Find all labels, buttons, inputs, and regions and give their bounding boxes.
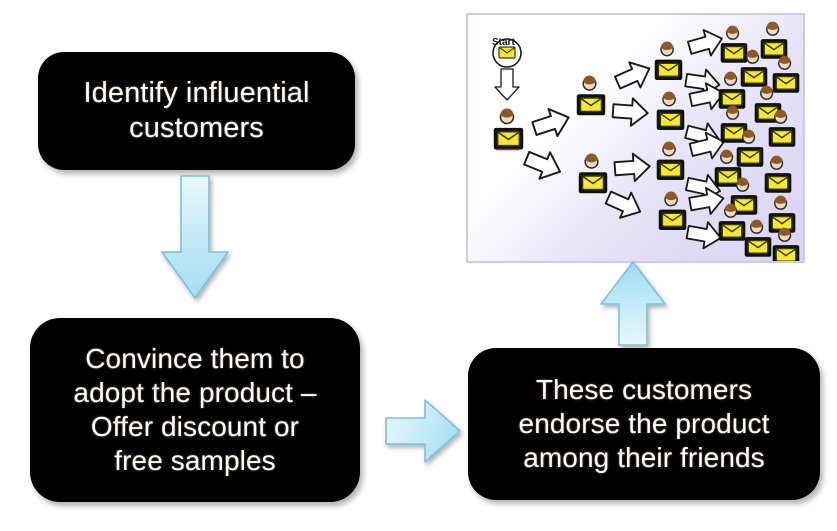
diagram-cluster xyxy=(715,22,798,261)
diagram-person xyxy=(495,108,523,150)
viral-spread-diagram: Start xyxy=(466,13,805,263)
diagram-person xyxy=(578,76,605,115)
diagram-start-label: Start xyxy=(492,37,515,48)
diagram-person xyxy=(655,42,681,80)
diagram-person xyxy=(580,154,607,193)
diagram-person xyxy=(657,142,683,180)
endorse-product-label: These customers endorse the product amon… xyxy=(505,373,784,475)
identify-influential-customers-label: Identify influential customers xyxy=(69,76,323,147)
diagram-person xyxy=(659,192,685,230)
arrow-up-icon xyxy=(598,260,668,348)
convince-adopt-product-label: Convince them to adopt the product – Off… xyxy=(59,342,330,479)
identify-influential-customers-box[interactable]: Identify influential customers xyxy=(38,52,355,170)
arrow-down-icon xyxy=(158,174,232,302)
slide-canvas: Start Identify influential customers Con… xyxy=(0,0,837,531)
arrow-right-icon xyxy=(383,396,463,466)
diagram-person xyxy=(657,92,683,130)
endorse-product-box[interactable]: These customers endorse the product amon… xyxy=(468,348,820,500)
convince-adopt-product-box[interactable]: Convince them to adopt the product – Off… xyxy=(30,318,360,502)
diagram-seed-arrow xyxy=(495,69,519,100)
